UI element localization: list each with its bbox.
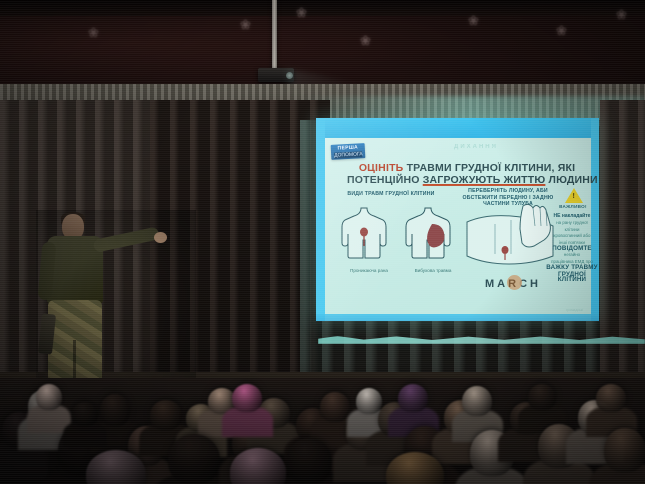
- speaker-figure: [22, 214, 172, 404]
- warning-label: ВАЖЛИВО!: [549, 204, 597, 209]
- ceiling-shadow: [0, 0, 645, 16]
- right-column-line-8: ВАЖКУ ТРАВМУ: [544, 265, 599, 270]
- speaker-pointing-arm: [93, 226, 160, 252]
- slide-top-border: [316, 118, 599, 138]
- butterfly-icon-2: ❀: [296, 6, 307, 19]
- torso-outline-icon: [403, 204, 463, 266]
- audience-head-3: [36, 384, 62, 410]
- march-letter-m: M: [485, 278, 497, 290]
- butterfly-glyph: ❀: [556, 24, 567, 37]
- slide-title-line2-lead: ПОТЕНЦІЙНО: [347, 174, 420, 186]
- butterfly-glyph: ❀: [296, 6, 307, 19]
- butterfly-glyph: ❀: [88, 26, 99, 39]
- projector-lens-icon: [286, 72, 293, 79]
- slide-title-underlined: ЗАГРОЖУЮТЬ ЖИТТЮ: [423, 174, 546, 186]
- slide-watermark: ДИХАННЯ: [421, 144, 531, 150]
- butterfly-glyph: ❀: [616, 8, 627, 21]
- brand-logo-line2: ДОПОМОГА: [334, 151, 362, 158]
- slide-title-line1: ОЦІНІТЬ ТРАВМИ ГРУДНОЇ КЛІТИНИ, ЯКІ: [347, 162, 587, 174]
- slide-bottom-border: [316, 314, 599, 321]
- butterfly-icon-1: ❀: [240, 18, 251, 31]
- audience-head-13: [232, 384, 262, 412]
- butterfly-glyph: ❀: [360, 34, 371, 47]
- audience-head-18: [356, 388, 382, 414]
- slide-footer: громадські: [566, 308, 583, 312]
- butterfly-icon-5: ❀: [556, 24, 567, 37]
- slide-content: ДИХАННЯ ПЕРША ДОПОМОГА ОЦІНІТЬ ТРАВМИ ГР…: [325, 138, 591, 314]
- stage-curtain-right: [600, 100, 645, 400]
- audience-head-20: [398, 384, 428, 412]
- warning-triangle-icon: !: [565, 188, 583, 203]
- caption-penetrating-wound: Проникаюча рана: [336, 268, 402, 274]
- slide-title-line2-tail: ЛЮДИНИ: [549, 174, 598, 186]
- torso-diagram-penetrating-wound: [339, 204, 399, 266]
- right-column-line-3: кровоспинний або: [544, 233, 599, 238]
- slide-title-emphasis: ОЦІНІТЬ: [359, 162, 404, 174]
- butterfly-glyph: ❀: [468, 14, 479, 27]
- audience-head-6: [150, 400, 182, 430]
- speaker-hand: [154, 232, 167, 243]
- butterfly-icon-3: ❀: [360, 34, 371, 47]
- brand-logo: ПЕРША ДОПОМОГА: [331, 143, 366, 160]
- slide-title-line2: ПОТЕНЦІЙНО ЗАГРОЖУЮТЬ ЖИТТЮ ЛЮДИНИ: [347, 174, 587, 186]
- right-column-line-5: ПОВІДОМТЕ: [544, 246, 599, 251]
- lecture-hall-photo: ❀❀❀❀❀❀❀ ДИХАННЯ ПЕРША ДОПОМОГА ОЦІНІ: [0, 0, 645, 484]
- butterfly-icon-0: ❀: [88, 26, 99, 39]
- audience-head-15: [320, 392, 350, 422]
- right-column-line-1: на рану грудної: [544, 220, 599, 225]
- audience-head-29: [596, 384, 626, 412]
- audience-head-4: [100, 394, 130, 426]
- butterfly-icon-4: ❀: [468, 14, 479, 27]
- projection-screen: ДИХАННЯ ПЕРША ДОПОМОГА ОЦІНІТЬ ТРАВМИ ГР…: [316, 118, 599, 321]
- slide-title: ОЦІНІТЬ ТРАВМИ ГРУДНОЇ КЛІТИНИ, ЯКІ ПОТЕ…: [347, 162, 587, 186]
- slide-title-line1-rest: ТРАВМИ ГРУДНОЇ КЛІТИНИ, ЯКІ: [407, 162, 576, 174]
- warning-exclamation-glyph: !: [573, 193, 575, 200]
- audience-head-26: [528, 384, 556, 410]
- audience-head-30: [604, 428, 645, 472]
- march-letter-r: R: [508, 278, 519, 290]
- butterfly-icon-6: ❀: [616, 8, 627, 21]
- presentation-slide: ДИХАННЯ ПЕРША ДОПОМОГА ОЦІНІТЬ ТРАВМИ ГР…: [316, 118, 599, 321]
- march-letter-h: H: [530, 278, 541, 290]
- torso-diagram-blast-trauma: [403, 204, 463, 266]
- left-column-heading: ВИДИ ТРАВМ ГРУДНОЇ КЛІТИНИ: [331, 191, 451, 198]
- right-column-line-0: НЕ накладайте: [544, 214, 599, 219]
- audience-crowd: [0, 378, 645, 484]
- audience-head-7: [72, 402, 98, 426]
- right-column-line-9: ГРУДНОЇ КЛІТИНИ: [544, 272, 599, 283]
- audience-head-23: [462, 386, 492, 416]
- torso-outline-icon: [339, 204, 399, 266]
- slide-left-border: [316, 118, 325, 321]
- right-column-line-2: клітини: [544, 227, 599, 232]
- butterfly-glyph: ❀: [240, 18, 251, 31]
- audience-head-10: [168, 434, 220, 484]
- right-column-line-6: негайно: [544, 252, 599, 257]
- audience-head-16: [286, 438, 332, 484]
- projector-mount-rod: [272, 0, 277, 72]
- right-instruction-column: НЕ накладайтена рану грудноїклітиникрово…: [544, 214, 599, 283]
- caption-blast-trauma: Вибухова травма: [400, 268, 466, 274]
